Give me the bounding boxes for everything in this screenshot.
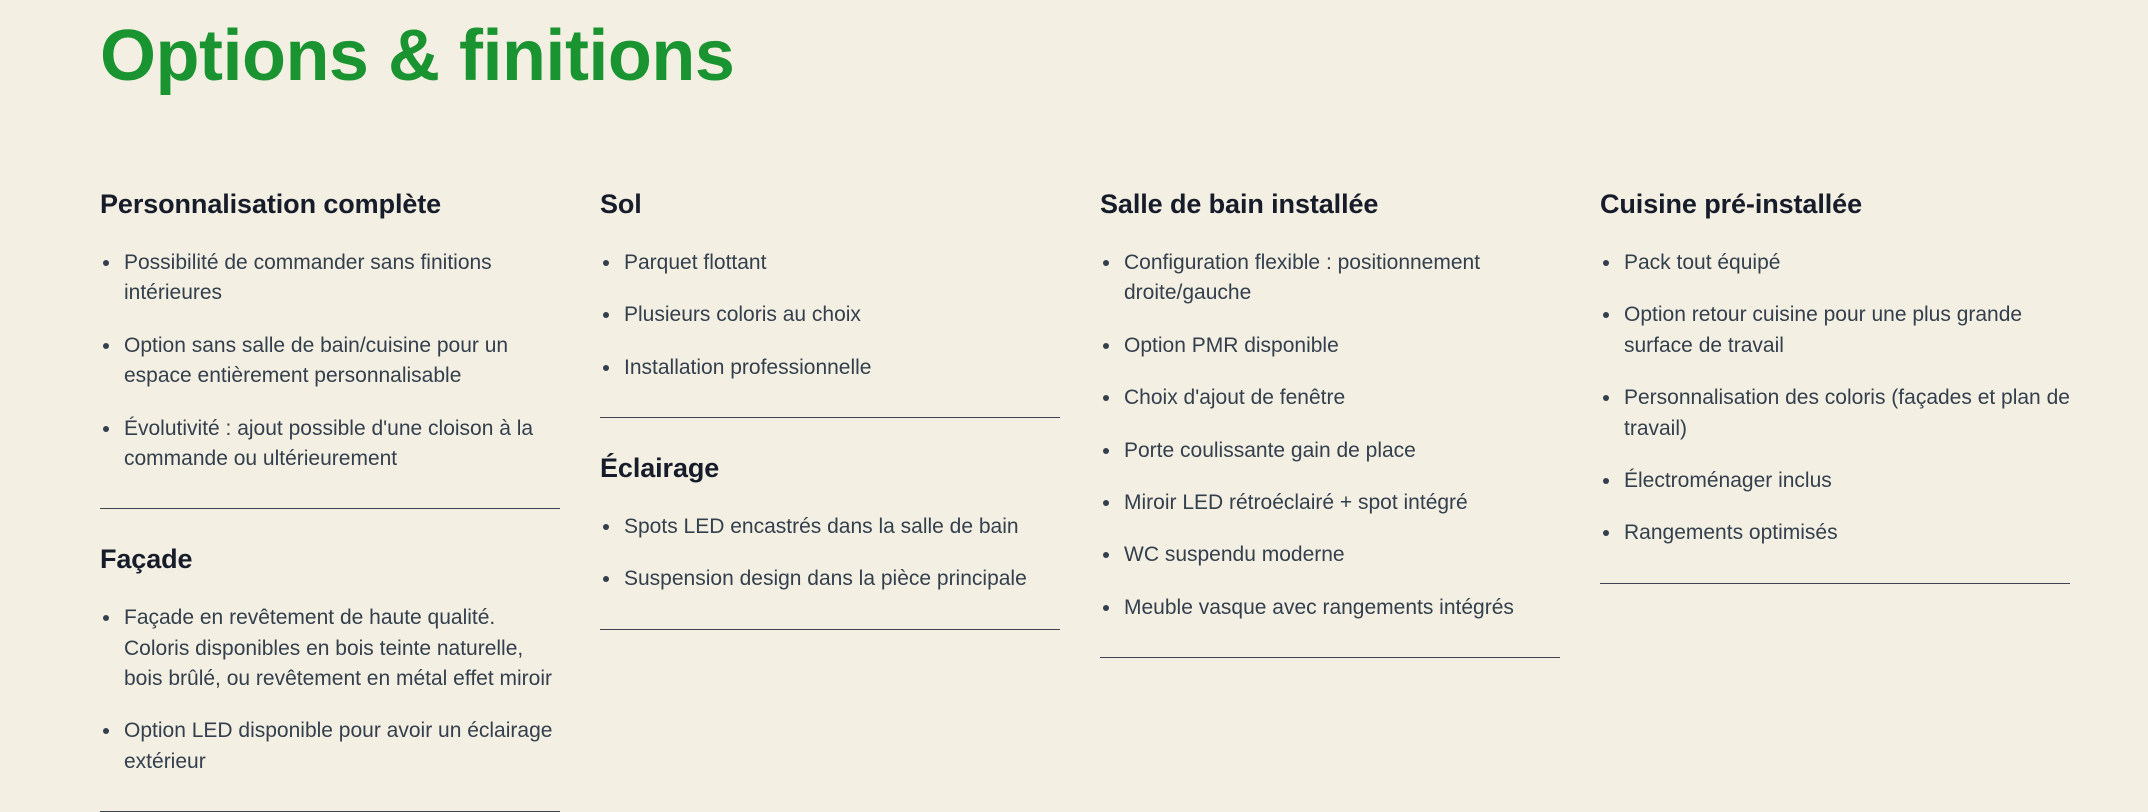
section-heading: Façade xyxy=(100,543,560,577)
features-columns: Personnalisation complète Possibilité de… xyxy=(100,188,2080,812)
list-item: Option sans salle de bain/cuisine pour u… xyxy=(100,331,560,392)
section-heading: Cuisine pré-installée xyxy=(1600,188,2070,222)
bullet-list: Spots LED encastrés dans la salle de bai… xyxy=(600,512,1060,595)
list-item: Possibilité de commander sans finitions … xyxy=(100,248,560,309)
page-title: Options & finitions xyxy=(100,20,734,92)
section-facade: Façade Façade en revêtement de haute qua… xyxy=(100,543,560,777)
list-item: Pack tout équipé xyxy=(1600,248,2070,278)
list-item: Façade en revêtement de haute qualité. C… xyxy=(100,603,560,694)
section-divider xyxy=(600,417,1060,418)
section-divider xyxy=(1600,583,2070,584)
section-heading: Personnalisation complète xyxy=(100,188,560,222)
column-sol-eclairage: Sol Parquet flottant Plusieurs coloris a… xyxy=(600,188,1100,630)
list-item: Spots LED encastrés dans la salle de bai… xyxy=(600,512,1060,542)
list-item: Évolutivité : ajout possible d'une clois… xyxy=(100,414,560,475)
list-item: Rangements optimisés xyxy=(1600,518,2070,548)
list-item: Personnalisation des coloris (façades et… xyxy=(1600,383,2070,444)
column-personnalisation: Personnalisation complète Possibilité de… xyxy=(100,188,600,812)
section-heading: Éclairage xyxy=(600,452,1060,486)
list-item: Miroir LED rétroéclairé + spot intégré xyxy=(1100,488,1560,518)
list-item: Porte coulissante gain de place xyxy=(1100,436,1560,466)
section-sol: Sol Parquet flottant Plusieurs coloris a… xyxy=(600,188,1060,383)
section-eclairage: Éclairage Spots LED encastrés dans la sa… xyxy=(600,452,1060,595)
list-item: Électroménager inclus xyxy=(1600,466,2070,496)
section-heading: Salle de bain installée xyxy=(1100,188,1560,222)
section-personnalisation-complete: Personnalisation complète Possibilité de… xyxy=(100,188,560,474)
list-item: Option retour cuisine pour une plus gran… xyxy=(1600,300,2070,361)
list-item: Parquet flottant xyxy=(600,248,1060,278)
list-item: WC suspendu moderne xyxy=(1100,540,1560,570)
list-item: Installation professionnelle xyxy=(600,353,1060,383)
list-item: Plusieurs coloris au choix xyxy=(600,300,1060,330)
list-item: Choix d'ajout de fenêtre xyxy=(1100,383,1560,413)
section-divider xyxy=(1100,657,1560,658)
bullet-list: Parquet flottant Plusieurs coloris au ch… xyxy=(600,248,1060,383)
section-divider xyxy=(100,508,560,509)
list-item: Option PMR disponible xyxy=(1100,331,1560,361)
column-salle-de-bain: Salle de bain installée Configuration fl… xyxy=(1100,188,1600,658)
bullet-list: Configuration flexible : positionnement … xyxy=(1100,248,1560,624)
list-item: Option LED disponible pour avoir un écla… xyxy=(100,716,560,777)
list-item: Configuration flexible : positionnement … xyxy=(1100,248,1560,309)
column-cuisine: Cuisine pré-installée Pack tout équipé O… xyxy=(1600,188,2080,584)
list-item: Suspension design dans la pièce principa… xyxy=(600,564,1060,594)
section-salle-de-bain-installee: Salle de bain installée Configuration fl… xyxy=(1100,188,1560,623)
bullet-list: Façade en revêtement de haute qualité. C… xyxy=(100,603,560,777)
section-cuisine-pre-installee: Cuisine pré-installée Pack tout équipé O… xyxy=(1600,188,2070,549)
options-finitions-page: Options & finitions Personnalisation com… xyxy=(0,0,2148,800)
section-heading: Sol xyxy=(600,188,1060,222)
section-divider xyxy=(600,629,1060,630)
bullet-list: Possibilité de commander sans finitions … xyxy=(100,248,560,475)
bullet-list: Pack tout équipé Option retour cuisine p… xyxy=(1600,248,2070,549)
list-item: Meuble vasque avec rangements intégrés xyxy=(1100,593,1560,623)
